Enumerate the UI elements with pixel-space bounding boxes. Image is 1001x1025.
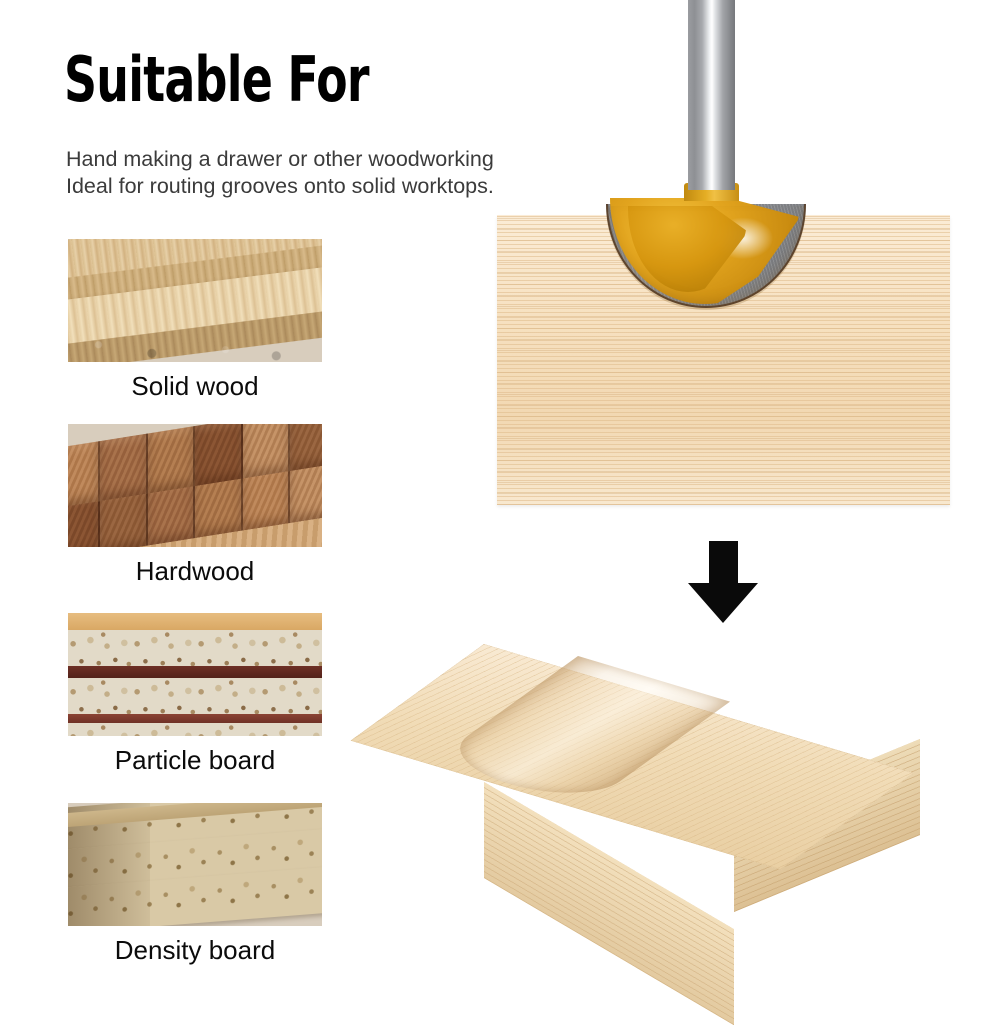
material-label-particle-board: Particle board [68, 745, 322, 775]
density-board-photo [68, 803, 322, 926]
router-bit-shank [688, 0, 735, 190]
material-item-solid-wood: Solid wood [68, 239, 322, 401]
subtitle-line-2: Ideal for routing grooves onto solid wor… [66, 173, 494, 200]
material-label-density-board: Density board [68, 935, 322, 965]
solid-wood-photo [68, 239, 322, 362]
page-title: Suitable For [64, 49, 369, 111]
hardwood-photo [68, 424, 322, 547]
routed-block-illustration [460, 640, 1001, 980]
material-item-density-board: Density board [68, 803, 322, 965]
router-bit-illustration [460, 0, 1001, 520]
material-item-hardwood: Hardwood [68, 424, 322, 586]
product-feature-page: Suitable For Hand making a drawer or oth… [0, 0, 1001, 1001]
groove-exit-notch [800, 642, 896, 712]
material-item-particle-board: Particle board [68, 613, 322, 775]
particle-board-photo [68, 613, 322, 736]
down-arrow-icon [688, 541, 758, 623]
page-subtitle: Hand making a drawer or other woodworkin… [66, 146, 494, 200]
material-label-hardwood: Hardwood [68, 556, 322, 586]
subtitle-line-1: Hand making a drawer or other woodworkin… [66, 146, 494, 173]
material-label-solid-wood: Solid wood [68, 371, 322, 401]
